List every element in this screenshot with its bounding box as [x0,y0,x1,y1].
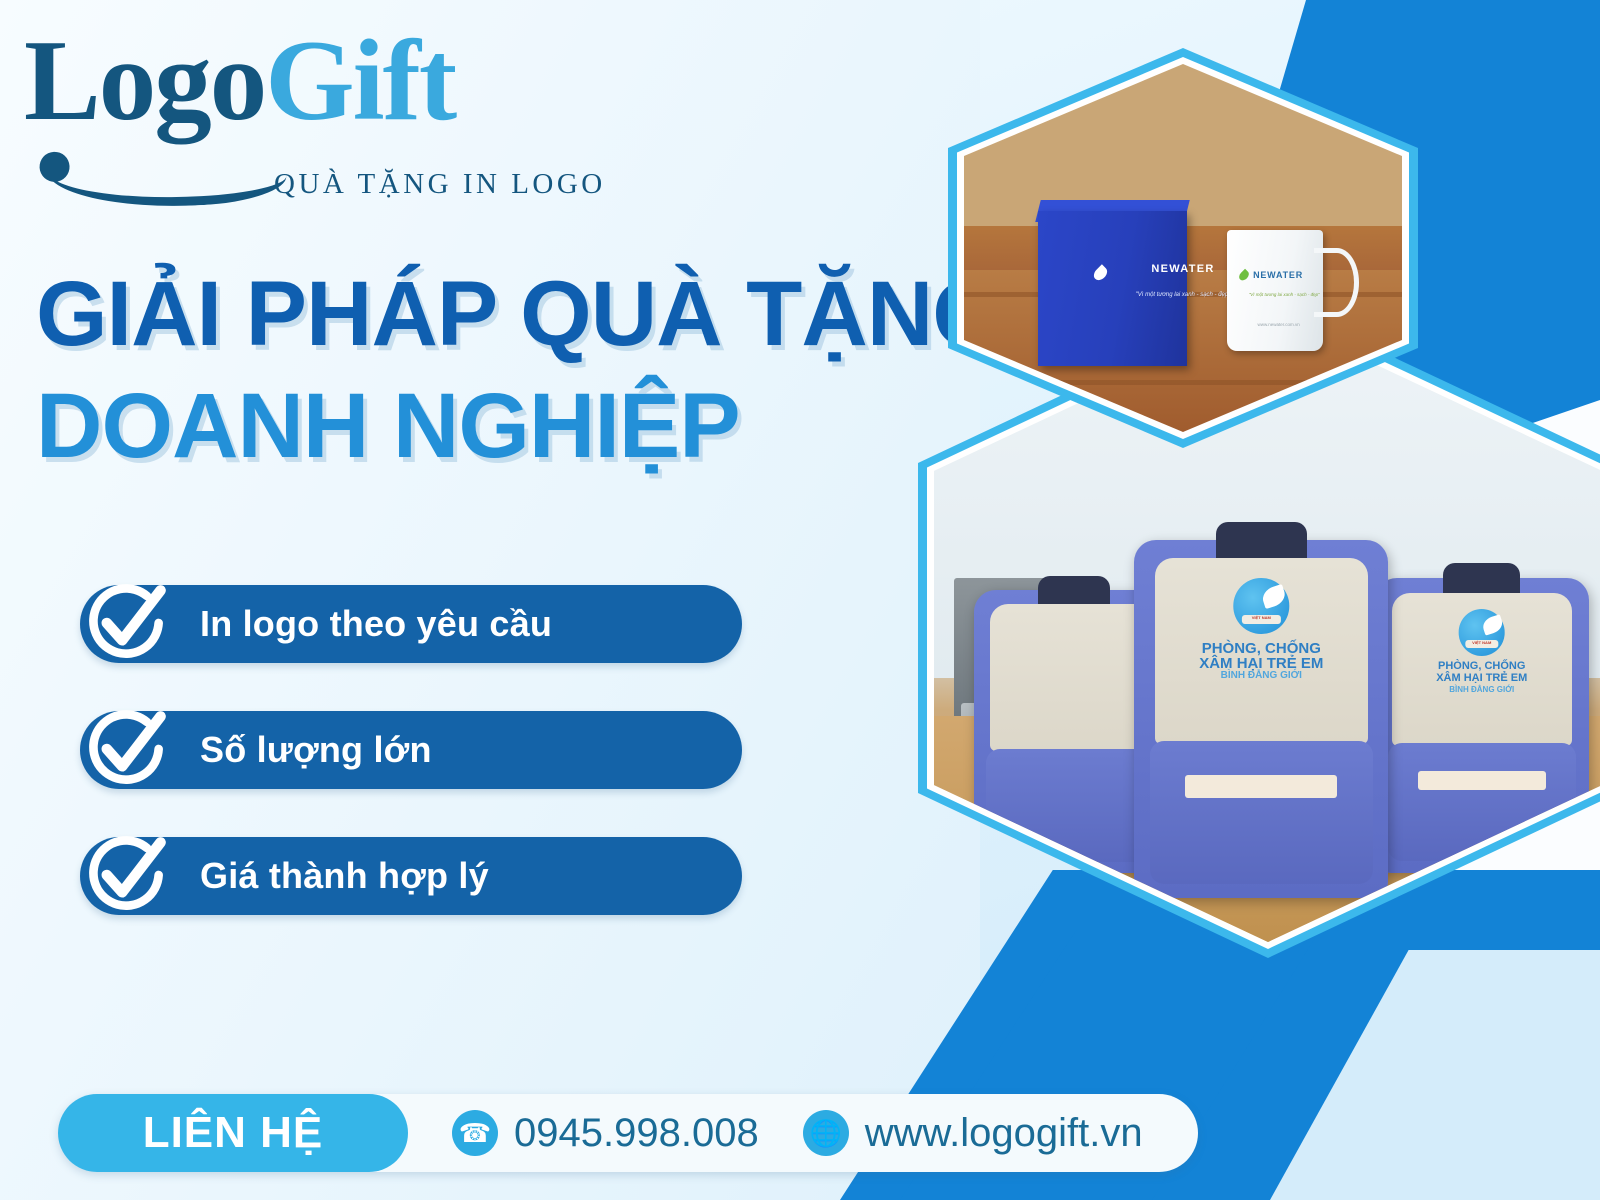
telephone-icon: ☎ [452,1110,498,1156]
headline-block: GIẢI PHÁP QUÀ TẶNG DOANH NGHIỆP [36,268,1003,474]
check-circle-icon [78,575,174,671]
backpack-name-strip [1418,771,1546,790]
backpack-panel: VIỆT NAM PHÒNG, CHỐNG XÂM HẠI TRẺ EM BÌN… [1155,558,1368,744]
printed-mug [1227,230,1323,351]
backpack-handle [1216,522,1307,558]
logo-word-gift: Gift [265,17,455,144]
newater-photo: NEWATER "Vì một tương lai xanh - sạch - … [964,64,1402,432]
check-circle-icon [78,701,174,797]
vietnam-dove-emblem-icon: VIỆT NAM [1458,609,1505,656]
mug-handle [1314,248,1358,317]
logo-tagline: QUÀ TẶNG IN LOGO [274,168,606,201]
contact-label-badge: LIÊN HỆ [58,1094,408,1172]
feature-list: In logo theo yêu cầu Số lượng lớn Giá th… [80,585,770,963]
feature-label-2: Số lượng lớn [200,729,432,771]
box-slogan-text: "Vì một tương lai xanh - sạch - đẹp" [1136,292,1231,298]
contact-website-text: www.logogift.vn [865,1111,1143,1156]
box-logo-text: NEWATER [1151,263,1214,275]
vietnam-dove-emblem-icon: VIỆT NAM [1234,578,1289,633]
feature-item-2[interactable]: Số lượng lớn [80,711,742,789]
backpack-center: VIỆT NAM PHÒNG, CHỐNG XÂM HẠI TRẺ EM BÌN… [1134,540,1388,898]
headline-line-2: DOANH NGHIỆP [36,380,1003,474]
feature-label-3: Giá thành hợp lý [200,855,489,897]
backpack-handle [1038,576,1110,604]
backpack-print-line1: PHÒNG, CHỐNG [1438,660,1525,672]
promo-banner: LogoGift QUÀ TẶNG IN LOGO GIẢI PHÁP QUÀ … [0,0,1600,1200]
logo-word-logo: Logo [24,17,265,144]
backpack-print-line3: BÌNH ĐẲNG GIỚI [1221,670,1302,681]
contact-website[interactable]: 🌐 www.logogift.vn [803,1110,1143,1156]
check-circle-icon [78,827,174,923]
emblem-ribbon-label: VIỆT NAM [1242,615,1281,624]
feature-item-1[interactable]: In logo theo yêu cầu [80,585,742,663]
backpack-print-line3: BÌNH ĐẲNG GIỚI [1449,685,1514,694]
feature-item-3[interactable]: Giá thành hợp lý [80,837,742,915]
brand-logo: LogoGift QUÀ TẶNG IN LOGO [24,26,564,135]
contact-phone-text: 0945.998.008 [514,1111,759,1156]
contact-phone[interactable]: ☎ 0945.998.008 [452,1110,759,1156]
globe-icon: 🌐 [803,1110,849,1156]
backpack-print-line2: XÂM HẠI TRẺ EM [1436,672,1527,684]
emblem-ribbon-label: VIỆT NAM [1465,640,1498,648]
feature-label-1: In logo theo yêu cầu [200,603,552,645]
backpack-handle [1443,563,1520,593]
mug-slogan-text: "Vì một tương lai xanh - sạch - đẹp" [1249,292,1320,297]
backpack-panel [990,604,1158,751]
gift-box [1038,211,1187,366]
backpack-name-strip [1185,775,1337,798]
mug-logo-text: NEWATER [1253,270,1303,280]
contact-bar: LIÊN HỆ ☎ 0945.998.008 🌐 www.logogift.vn [58,1094,1198,1172]
backpack-pocket [1150,741,1373,884]
backpack-panel: VIỆT NAM PHÒNG, CHỐNG XÂM HẠI TRẺ EM BÌN… [1392,593,1572,746]
headline-line-1: GIẢI PHÁP QUÀ TẶNG [36,268,1003,362]
mug-url-text: www.newater.com.vn [1257,322,1299,327]
logo-wordmark: LogoGift [24,26,564,135]
